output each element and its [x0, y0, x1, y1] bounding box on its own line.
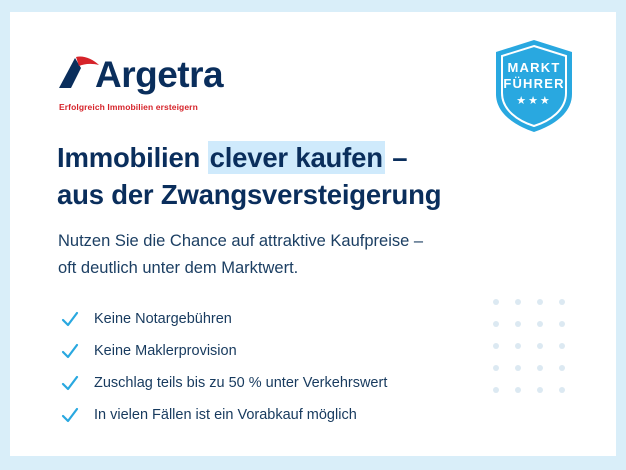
brand-name: Argetra — [95, 56, 223, 93]
brand-tagline: Erfolgreich Immobilien ersteigern — [59, 102, 198, 112]
list-item-label: In vielen Fällen ist ein Vorabkauf mögli… — [94, 407, 357, 424]
benefit-list: Keine Notargebühren Keine Maklerprovisio… — [58, 304, 528, 432]
headline-line2: aus der Zwangsversteigerung — [57, 179, 441, 210]
check-icon — [60, 374, 80, 394]
subtitle-line2: oft deutlich unter dem Marktwert. — [58, 259, 298, 277]
brand-logo[interactable]: Argetra Erfolgreich Immobilien ersteiger… — [57, 50, 257, 122]
frame-border-left — [0, 0, 10, 470]
headline-line1-pre: Immobilien — [57, 142, 208, 173]
badge-line-1: MARKT — [490, 60, 578, 75]
page-subtitle: Nutzen Sie die Chance auf attraktive Kau… — [58, 228, 578, 281]
page-title: Immobilien clever kaufen – aus der Zwang… — [57, 140, 577, 213]
list-item-label: Zuschlag teils bis zu 50 % unter Verkehr… — [94, 375, 387, 392]
check-icon — [60, 310, 80, 330]
market-leader-badge: MARKT FÜHRER ★★★ — [490, 38, 578, 134]
badge-stars: ★★★ — [490, 94, 578, 107]
list-item-label: Keine Maklerprovision — [94, 343, 237, 360]
check-icon — [60, 406, 80, 426]
headline-line1-post: – — [385, 142, 408, 173]
frame-border-top — [0, 0, 626, 12]
subtitle-line1: Nutzen Sie die Chance auf attraktive Kau… — [58, 232, 423, 250]
badge-line-2: FÜHRER — [490, 76, 578, 91]
check-icon — [60, 342, 80, 362]
frame-border-right — [616, 0, 626, 470]
list-item: Zuschlag teils bis zu 50 % unter Verkehr… — [58, 368, 528, 400]
list-item: Keine Maklerprovision — [58, 336, 528, 368]
list-item: In vielen Fällen ist ein Vorabkauf mögli… — [58, 400, 528, 432]
banner-card: Argetra Erfolgreich Immobilien ersteiger… — [10, 12, 616, 456]
banner-root: Argetra Erfolgreich Immobilien ersteiger… — [0, 0, 626, 470]
frame-border-bottom — [0, 456, 626, 470]
list-item-label: Keine Notargebühren — [94, 311, 232, 328]
headline-highlight: clever kaufen — [208, 141, 385, 174]
list-item: Keine Notargebühren — [58, 304, 528, 336]
